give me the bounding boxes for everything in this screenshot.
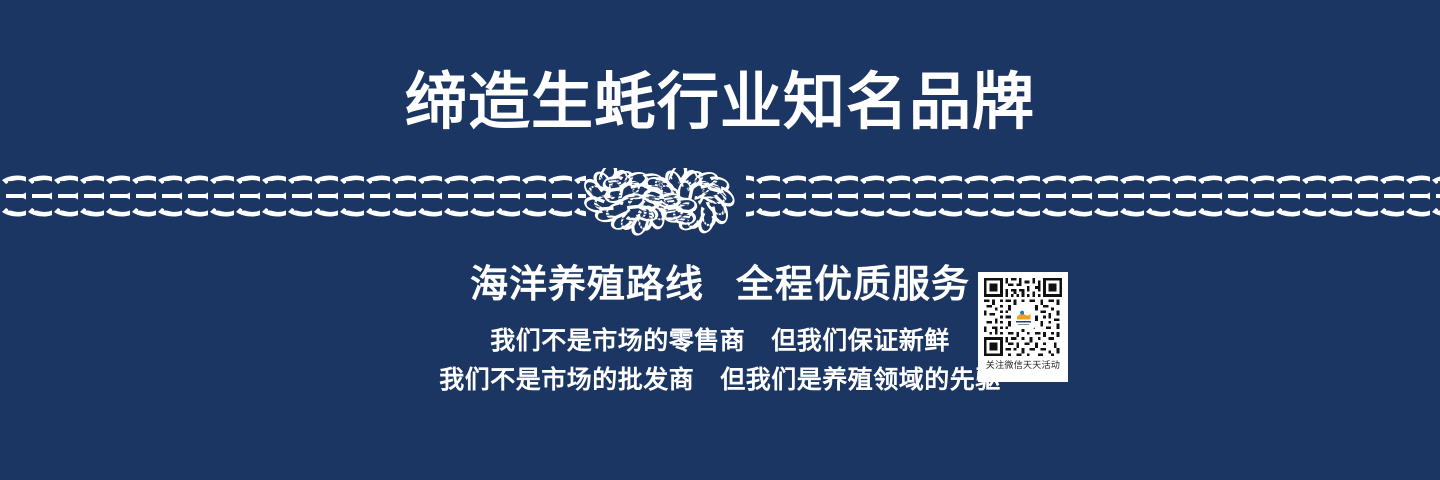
tagline-right: 但我们保证新鲜 (771, 327, 950, 355)
rope-knot-icon (578, 168, 754, 248)
subtitle: 海洋养殖路线全程优质服务 (0, 262, 1440, 310)
tagline-row: 我们不是市场的批发商但我们是养殖领域的先驱 (0, 361, 1440, 400)
rope-divider (0, 168, 1440, 248)
tagline-left: 我们不是市场的批发商 (439, 366, 694, 394)
tagline-group: 我们不是市场的零售商但我们保证新鲜 我们不是市场的批发商但我们是养殖领域的先驱 (0, 322, 1440, 400)
subtitle-left: 海洋养殖路线 (470, 264, 704, 306)
tagline-right: 但我们是养殖领域的先驱 (720, 366, 1001, 394)
tagline-left: 我们不是市场的零售商 (490, 327, 745, 355)
qr-card[interactable]: 关注微信天天活动 (978, 272, 1068, 382)
page-title: 缔造生蚝行业知名品牌 (0, 72, 1440, 134)
promo-banner: 缔造生蚝行业知名品牌 (0, 0, 1440, 480)
tagline-row: 我们不是市场的零售商但我们保证新鲜 (0, 322, 1440, 361)
subtitle-right: 全程优质服务 (736, 264, 970, 306)
qr-code-icon[interactable] (984, 278, 1062, 356)
qr-caption: 关注微信天天活动 (986, 358, 1060, 371)
